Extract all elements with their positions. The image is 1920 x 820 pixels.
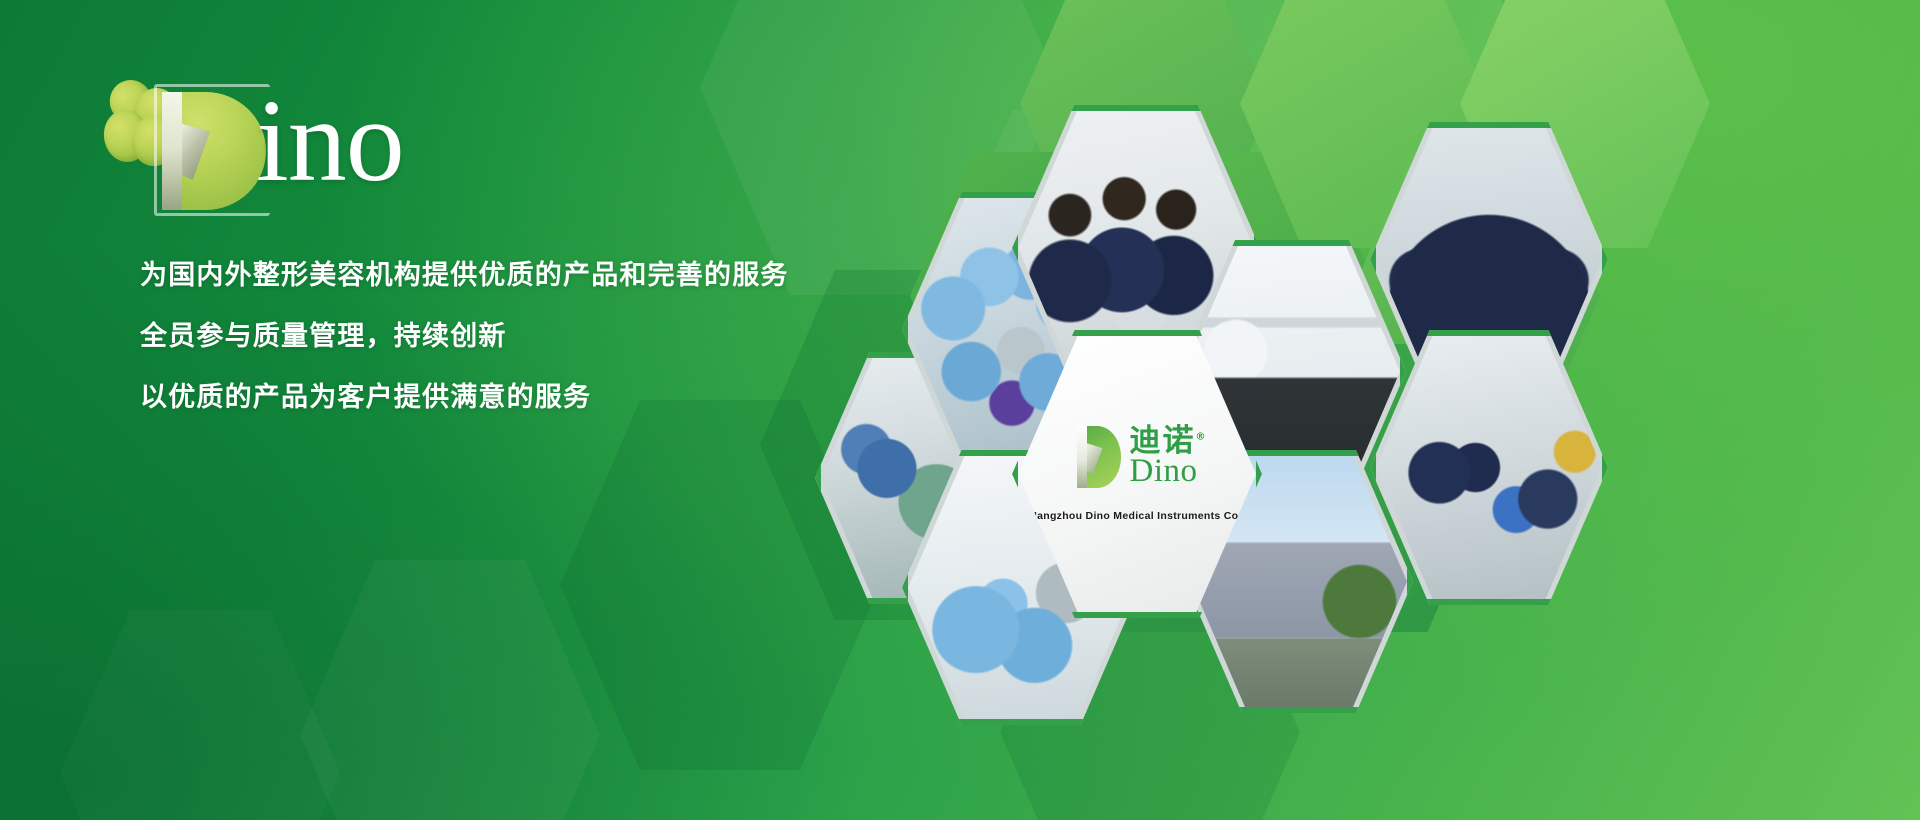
logo-d-letter-icon: [144, 88, 268, 214]
slogan-list: 为国内外整形美容机构提供优质的产品和完善的服务 全员参与质量管理，持续创新 以优…: [140, 262, 960, 445]
brand-logo[interactable]: ino: [104, 72, 524, 212]
slogan-line-3: 以优质的产品为客户提供满意的服务: [140, 384, 960, 411]
hero-banner: ino 为国内外整形美容机构提供优质的产品和完善的服务 全员参与质量管理，持续创…: [0, 0, 1920, 820]
slogan-line-1: 为国内外整形美容机构提供优质的产品和完善的服务: [140, 262, 960, 289]
brand-wordmark: ino: [256, 82, 404, 200]
slogan-line-2: 全员参与质量管理，持续创新: [140, 323, 960, 350]
hexagon-photo-cluster: 迪诺® Dino Hangzhou Dino Medical Instrumen…: [840, 0, 1920, 820]
